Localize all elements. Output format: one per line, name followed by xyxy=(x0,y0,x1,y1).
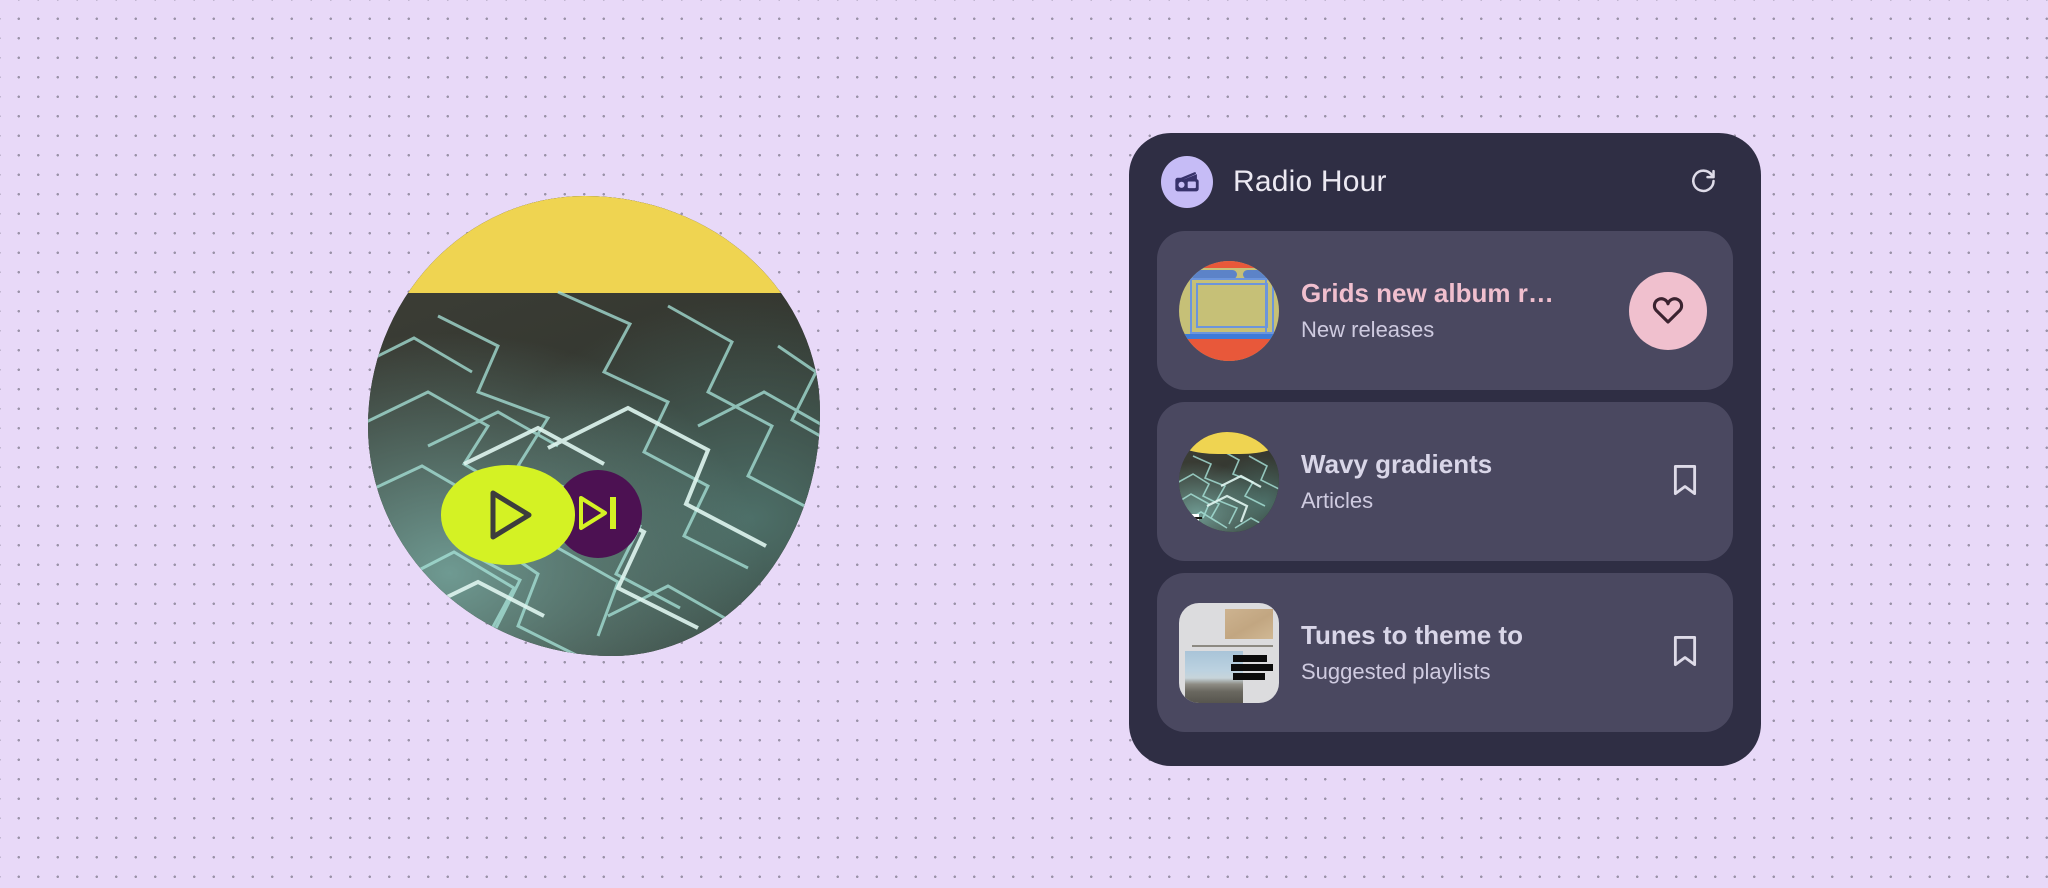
favorite-button[interactable] xyxy=(1629,272,1707,350)
list-item-title: Grids new album r… xyxy=(1301,278,1607,309)
artwork-line-pattern xyxy=(368,196,820,656)
refresh-icon xyxy=(1687,165,1719,200)
album-artwork xyxy=(368,196,820,656)
card-header: Radio Hour xyxy=(1157,133,1733,231)
list-item-title: Wavy gradients xyxy=(1301,449,1641,480)
artwork-corner-notch xyxy=(375,590,439,654)
list-item-title: Tunes to theme to xyxy=(1301,620,1641,651)
list-item-text: Grids new album r… New releases xyxy=(1301,278,1607,343)
list-item-subtitle: Suggested playlists xyxy=(1301,659,1641,685)
list-item-text: Wavy gradients Articles xyxy=(1301,449,1641,514)
list-item-subtitle: New releases xyxy=(1301,317,1607,343)
radio-list-item-1[interactable]: Grids new album r… New releases xyxy=(1157,231,1733,390)
beach-page-thumbnail xyxy=(1179,603,1279,703)
album-player xyxy=(368,196,820,656)
page-title: Radio Hour xyxy=(1233,165,1661,199)
bookmark-button[interactable] xyxy=(1663,631,1707,675)
blob-artwork-thumbnail xyxy=(1179,432,1279,532)
radio-list-item-3[interactable]: Tunes to theme to Suggested playlists xyxy=(1157,573,1733,732)
refresh-button[interactable] xyxy=(1681,160,1725,204)
bookmark-icon xyxy=(1670,463,1700,500)
play-button[interactable] xyxy=(441,465,575,565)
play-triangle-icon xyxy=(482,488,534,542)
radio-list-item-2[interactable]: Wavy gradients Articles xyxy=(1157,402,1733,561)
skip-next-icon xyxy=(577,494,619,535)
bookmark-button[interactable] xyxy=(1663,460,1707,504)
bookmark-icon xyxy=(1670,634,1700,671)
list-item-subtitle: Articles xyxy=(1301,488,1641,514)
radio-icon xyxy=(1161,156,1213,208)
grid-artwork-thumbnail xyxy=(1179,261,1279,361)
list-item-text: Tunes to theme to Suggested playlists xyxy=(1301,620,1641,685)
radio-hour-card: Radio Hour Grids new album r… New releas… xyxy=(1129,133,1761,766)
heart-icon xyxy=(1651,293,1685,328)
